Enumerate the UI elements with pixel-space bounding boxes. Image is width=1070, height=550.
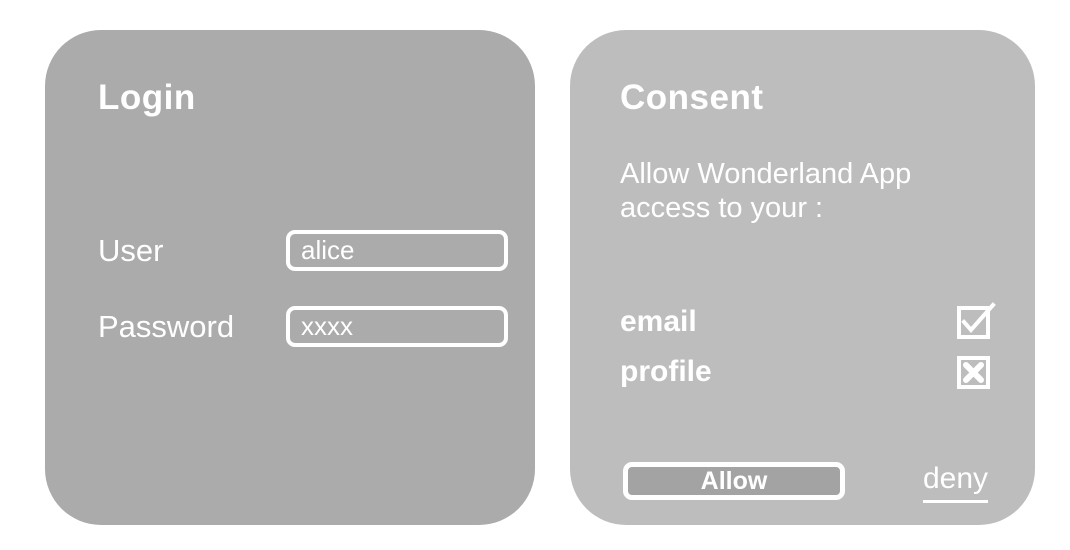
password-field-row: Password xxxx [98, 305, 498, 347]
consent-description: Allow Wonderland App access to your : [620, 158, 1000, 226]
password-field-label: Password [98, 311, 234, 342]
password-input[interactable]: xxxx [286, 306, 508, 347]
password-input-value: xxxx [301, 313, 353, 339]
scope-row-email[interactable]: email [620, 302, 990, 342]
allow-button[interactable]: Allow [623, 462, 845, 500]
checkbox-crossed-icon[interactable] [957, 356, 990, 389]
consent-card: Consent Allow Wonderland App access to y… [570, 30, 1035, 525]
login-card: Login User alice Password xxxx [45, 30, 535, 525]
allow-button-label: Allow [701, 469, 768, 494]
scope-label-profile: profile [620, 357, 712, 387]
user-field-row: User alice [98, 229, 498, 271]
scope-row-profile[interactable]: profile [620, 352, 990, 392]
user-input-value: alice [301, 237, 354, 263]
deny-link[interactable]: deny [923, 464, 988, 503]
user-input[interactable]: alice [286, 230, 508, 271]
user-field-label: User [98, 235, 163, 266]
consent-title: Consent [620, 78, 764, 118]
checkbox-checked-icon[interactable] [957, 306, 990, 339]
scope-label-email: email [620, 307, 697, 337]
login-title: Login [98, 78, 196, 118]
